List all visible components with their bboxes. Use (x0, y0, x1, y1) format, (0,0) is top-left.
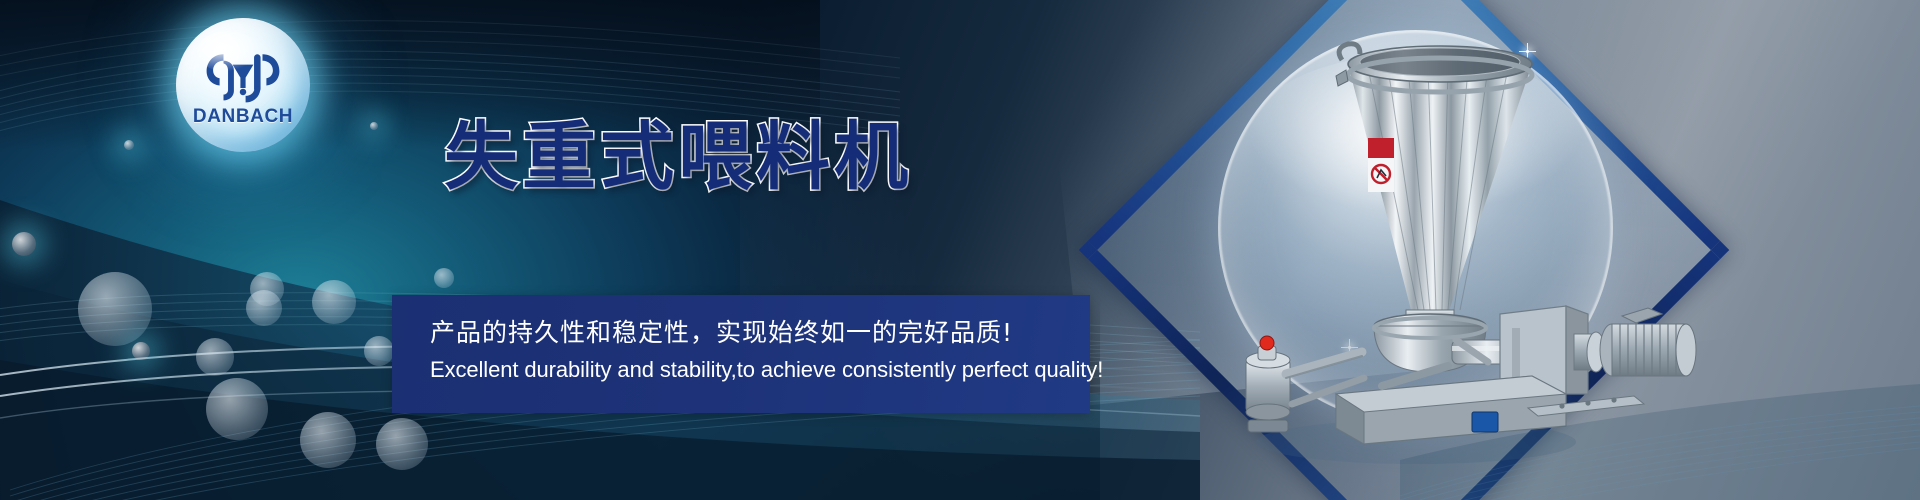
decorative-bubble (132, 342, 150, 360)
background-bottom-right-lines (1400, 310, 1920, 500)
danbach-logo-icon (204, 49, 282, 105)
brand-name: DANBACH (193, 107, 293, 126)
decorative-bubble (206, 378, 268, 440)
decorative-bubble (124, 140, 134, 150)
decorative-bubble (300, 412, 356, 468)
brand-logo[interactable]: DANBACH (176, 18, 310, 152)
decorative-bubble (12, 232, 36, 256)
decorative-bubble (376, 418, 428, 470)
decorative-bubble (78, 272, 152, 346)
decorative-bubble (370, 122, 378, 130)
tagline-box: 产品的持久性和稳定性，实现始终如一的完好品质! Excellent durabi… (392, 295, 1090, 413)
decorative-bubble (434, 268, 454, 288)
promo-banner: DANBACH 失重式喂料机 产品的持久性和稳定性，实现始终如一的完好品质! E… (0, 0, 1920, 500)
decorative-bubble (312, 280, 356, 324)
page-title: 失重式喂料机 (444, 120, 912, 194)
decorative-bubble (196, 338, 234, 376)
tagline-english: Excellent durability and stability,to ac… (430, 357, 1103, 383)
tagline-chinese: 产品的持久性和稳定性，实现始终如一的完好品质! (430, 313, 1013, 349)
decorative-bubble (250, 272, 284, 306)
decorative-bubble (364, 336, 394, 366)
